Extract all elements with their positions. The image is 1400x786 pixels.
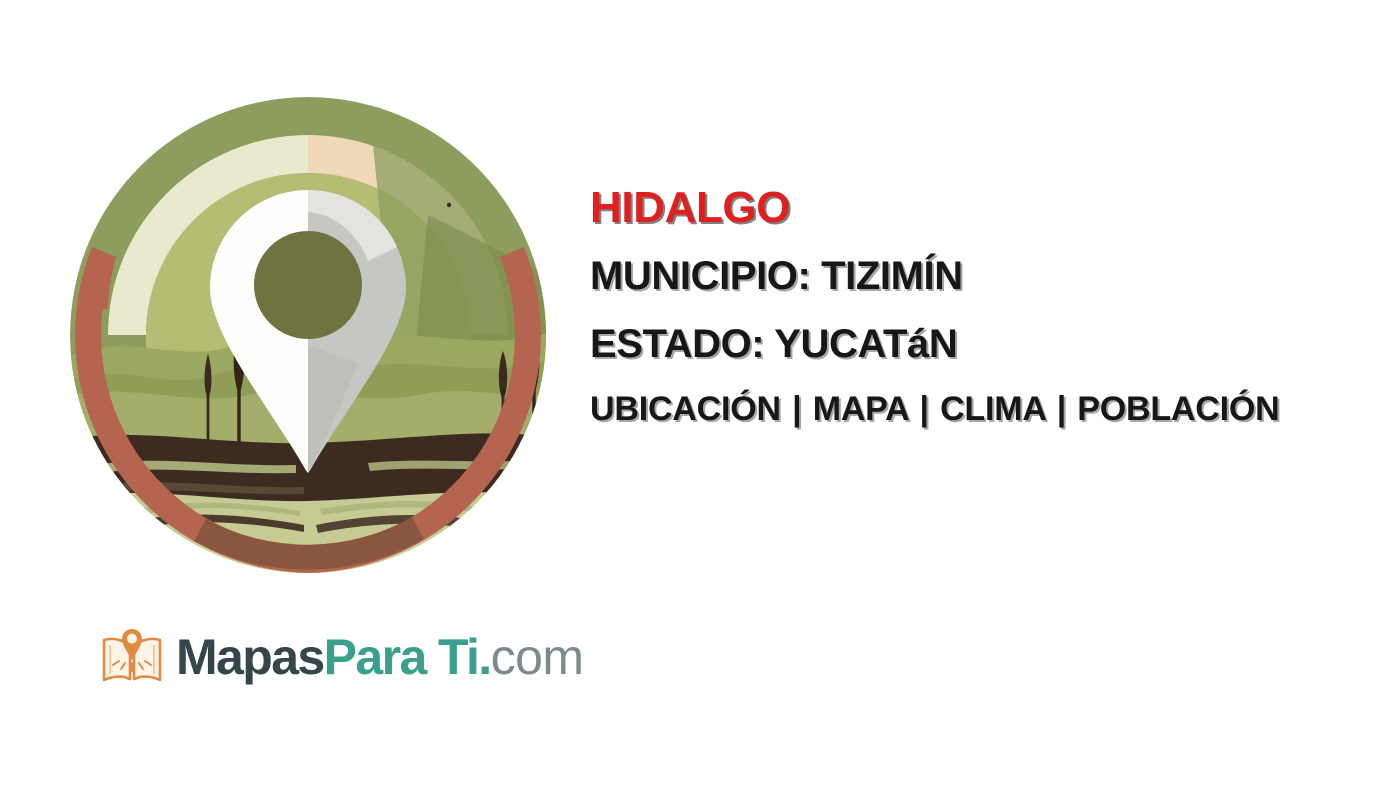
site-brand-logo[interactable]: MapasPara Ti.com <box>98 620 584 694</box>
estado-line: ESTADO: YUCATáN <box>590 324 1390 364</box>
brand-word-parati: Para Ti. <box>324 629 491 685</box>
page-title: HIDALGO <box>590 186 1390 230</box>
location-info-block: HIDALGO MUNICIPIO: TIZIMÍN ESTADO: YUCAT… <box>590 186 1390 426</box>
nav-link-ubicacion[interactable]: UBICACIÓN <box>590 390 781 428</box>
municipio-line: MUNICIPIO: TIZIMÍN <box>590 256 1390 296</box>
nav-separator: | <box>790 390 803 428</box>
landscape-location-pin-emblem <box>68 95 548 575</box>
nav-link-poblacion[interactable]: POBLACIÓN <box>1077 390 1279 428</box>
brand-word-com: com <box>491 629 584 685</box>
open-book-with-pin-icon <box>98 623 166 691</box>
nav-separator: | <box>917 390 930 428</box>
nav-link-clima[interactable]: CLIMA <box>940 390 1045 428</box>
nav-separator: | <box>1055 390 1068 428</box>
emblem-speck <box>447 203 451 207</box>
page-root: HIDALGO MUNICIPIO: TIZIMÍN ESTADO: YUCAT… <box>0 0 1400 786</box>
brand-word-mapas: Mapas <box>176 629 324 685</box>
brand-wordmark: MapasPara Ti.com <box>176 632 584 682</box>
nav-link-mapa[interactable]: MAPA <box>813 390 909 428</box>
nav-links: UBICACIÓN | MAPA | CLIMA | POBLACIÓN <box>590 392 1390 426</box>
